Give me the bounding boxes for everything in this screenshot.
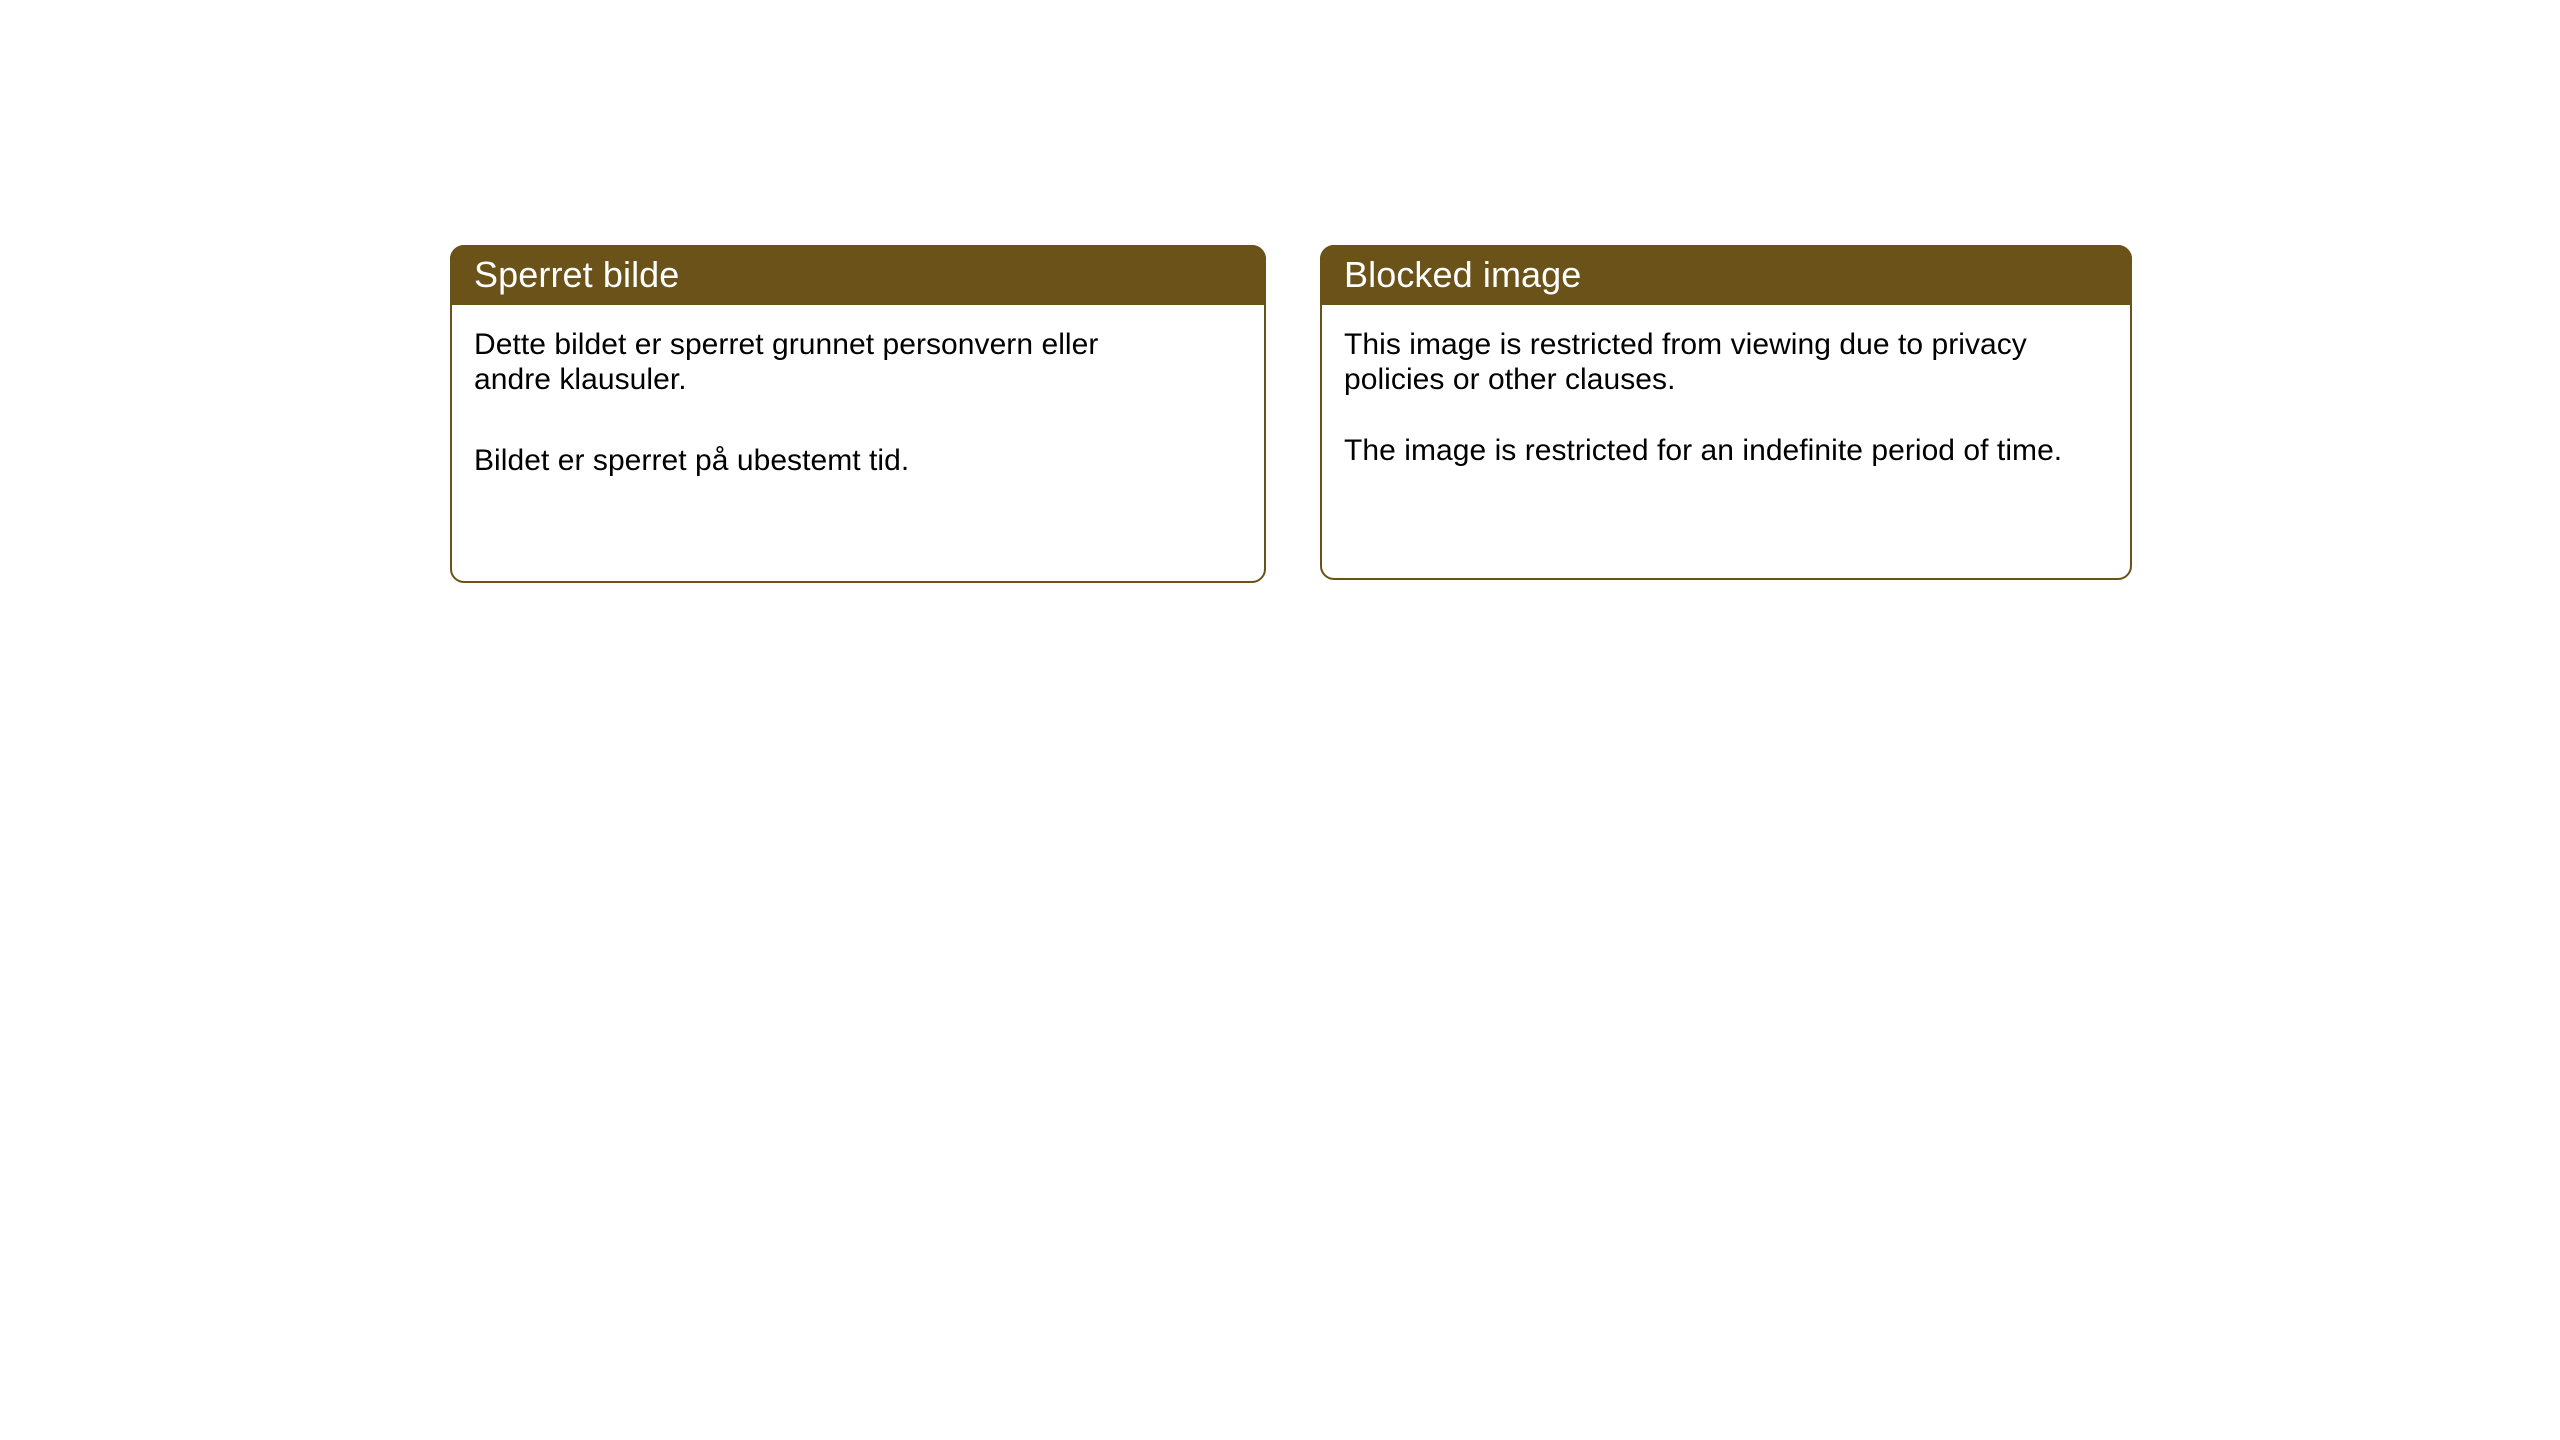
panel-header-en: Blocked image bbox=[1320, 245, 2132, 305]
panel-body-en: This image is restricted from viewing du… bbox=[1322, 307, 2130, 578]
panel-paragraph-en-1: This image is restricted from viewing du… bbox=[1344, 327, 2084, 397]
panel-body-no: Dette bildet er sperret grunnet personve… bbox=[452, 307, 1264, 581]
panel-title-no: Sperret bilde bbox=[474, 257, 679, 293]
panel-paragraph-no-2: Bildet er sperret på ubestemt tid. bbox=[474, 443, 1174, 478]
panel-title-en: Blocked image bbox=[1344, 257, 1581, 293]
blocked-image-notice-no: Sperret bilde Dette bildet er sperret gr… bbox=[450, 245, 1266, 583]
page-root: Sperret bilde Dette bildet er sperret gr… bbox=[0, 0, 2560, 1440]
panel-header-no: Sperret bilde bbox=[450, 245, 1266, 305]
blocked-image-notice-en: Blocked image This image is restricted f… bbox=[1320, 245, 2132, 580]
panel-paragraph-en-2: The image is restricted for an indefinit… bbox=[1344, 433, 2084, 468]
panel-paragraph-no-1: Dette bildet er sperret grunnet personve… bbox=[474, 327, 1174, 397]
